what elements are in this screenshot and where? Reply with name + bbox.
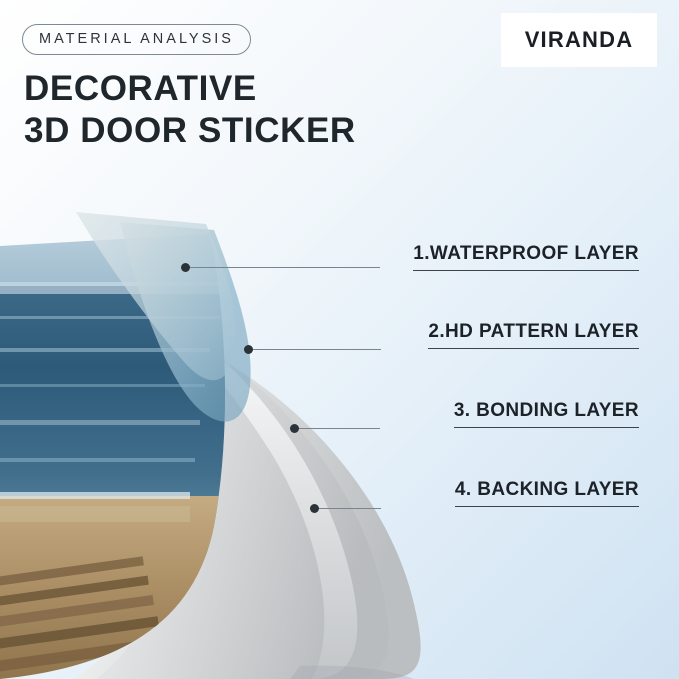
leader-line-1 [190,267,380,268]
callout-label-waterproof-layer: 1.WATERPROOF LAYER [413,243,639,271]
leader-line-2 [253,349,381,350]
callout-label-hd-pattern-layer: 2.HD PATTERN LAYER [428,321,639,349]
poster-canvas: MATERIAL ANALYSIS DECORATIVE 3D DOOR STI… [0,0,679,679]
callout-dot-3 [290,424,299,433]
callout-dot-4 [310,504,319,513]
callout-label-bonding-layer: 3. BONDING LAYER [454,400,639,428]
callout-label-backing-layer: 4. BACKING LAYER [455,479,639,507]
leader-line-3 [299,428,380,429]
brand-name: VIRANDA [525,27,634,53]
callout-dot-1 [181,263,190,272]
title-line-2: 3D DOOR STICKER [24,110,356,152]
callout-dot-2 [244,345,253,354]
page-title: DECORATIVE 3D DOOR STICKER [24,68,356,152]
leader-line-4 [319,508,381,509]
title-line-1: DECORATIVE [24,68,356,110]
eyebrow-badge: MATERIAL ANALYSIS [22,24,251,55]
brand-logo-box: VIRANDA [501,13,657,67]
